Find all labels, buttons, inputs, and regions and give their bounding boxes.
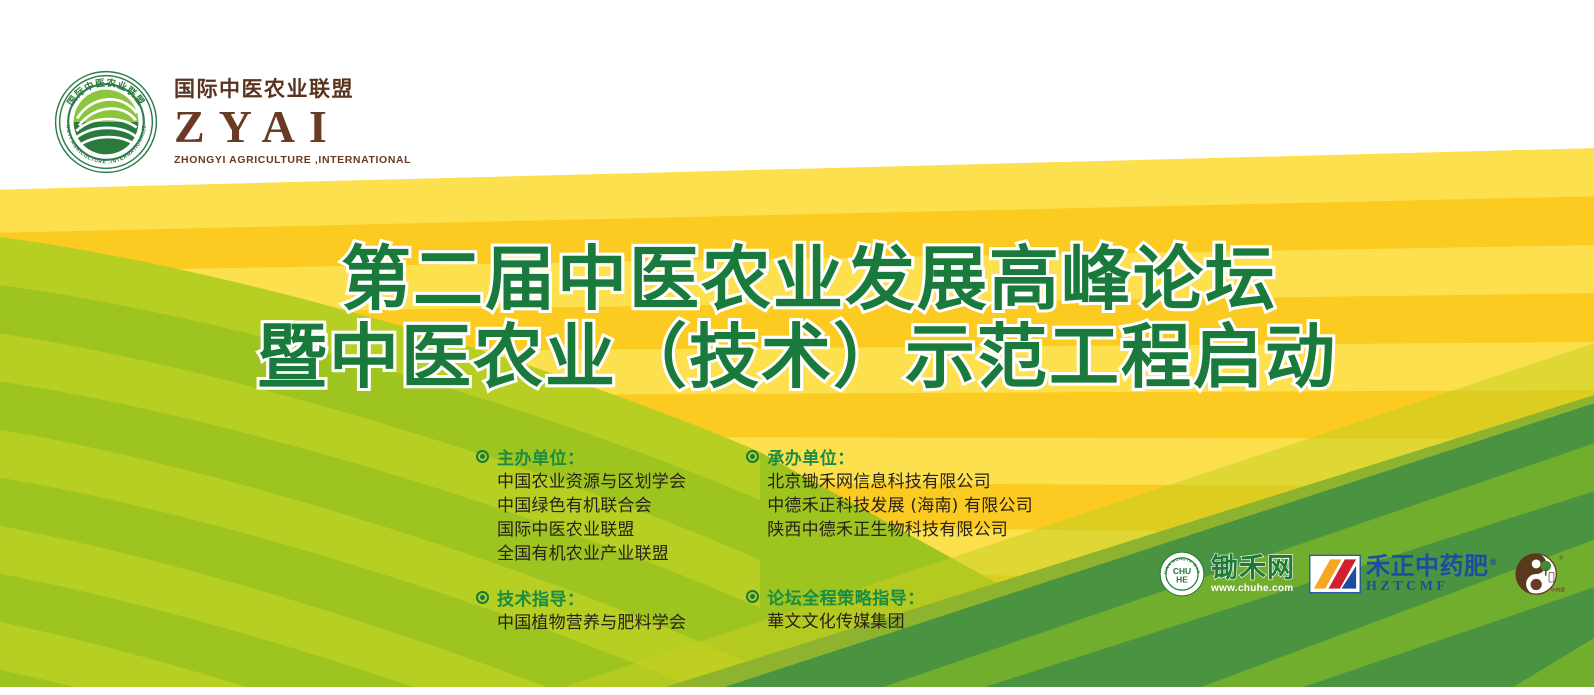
sponsor-hezheng: 禾正中药肥® HZTCMF	[1309, 554, 1498, 594]
info-group-host: 主办单位： 中国农业资源与区划学会 中国绿色有机联合会 国际中医农业联盟 全国有…	[476, 444, 686, 567]
yinyang-tree-icon: ® 中药肥	[1512, 551, 1570, 597]
info-column-right: 承办单位： 北京锄禾网信息科技有限公司 中德禾正科技发展 (海南) 有限公司 陕…	[746, 444, 1033, 639]
logo-acronym: ZYAI	[174, 104, 411, 150]
info-heading-label: 主办单位：	[497, 444, 585, 469]
logo-name-cn: 国际中医农业联盟	[174, 79, 411, 100]
hezheng-name-cn-text: 禾正中药肥	[1366, 552, 1489, 580]
spacer	[746, 546, 1033, 584]
info-item-list: 中国农业资源与区划学会 中国绿色有机联合会 国际中医农业联盟 全国有机农业产业联…	[476, 470, 686, 567]
list-item: 中国植物营养与肥料学会	[497, 611, 686, 635]
svg-text:中药肥: 中药肥	[1551, 587, 1566, 594]
chuhe-url: www.chuhe.com	[1211, 584, 1295, 594]
sponsor-logo-row: CHINA NONGYE WANG CHU HE 锄禾网 www.chuhe.c…	[1159, 551, 1570, 597]
list-item: 中国农业资源与区划学会	[497, 470, 686, 494]
sponsor-yinyang: ® 中药肥	[1512, 551, 1570, 597]
list-item: 北京锄禾网信息科技有限公司	[767, 470, 1033, 494]
hezheng-name-en: HZTCMF	[1366, 580, 1498, 594]
list-item: 中德禾正科技发展 (海南) 有限公司	[767, 494, 1033, 518]
info-item-list: 中国植物营养与肥料学会	[476, 611, 686, 635]
logo-name-en: ZHONGYI AGRICULTURE ,INTERNATIONAL	[174, 155, 411, 166]
organization-logo: 国际中医农业联盟 ZHONGYI AGRICULTURE ,INTERNATIO…	[52, 68, 411, 176]
list-item: 華文文化传媒集团	[767, 610, 1033, 634]
info-heading-row: 承办单位：	[746, 444, 1033, 469]
info-item-list: 華文文化传媒集团	[746, 610, 1033, 634]
info-item-list: 北京锄禾网信息科技有限公司 中德禾正科技发展 (海南) 有限公司 陕西中德禾正生…	[746, 470, 1033, 542]
bullet-icon	[746, 450, 759, 463]
chuhe-name-cn: 锄禾网	[1211, 555, 1295, 582]
chuhe-wordmark: 锄禾网 www.chuhe.com	[1211, 555, 1295, 594]
info-group-strategy-guidance: 论坛全程策略指导： 華文文化传媒集团	[746, 584, 1033, 634]
info-heading-label: 技术指导：	[497, 585, 585, 610]
sponsor-chuhe: CHINA NONGYE WANG CHU HE 锄禾网 www.chuhe.c…	[1159, 551, 1295, 597]
info-heading-label: 承办单位：	[767, 444, 855, 469]
spacer	[476, 571, 686, 585]
hezheng-wordmark: 禾正中药肥® HZTCMF	[1366, 554, 1498, 594]
poster-banner: 国际中医农业联盟 ZHONGYI AGRICULTURE ,INTERNATIO…	[0, 0, 1594, 695]
logo-wordmark: 国际中医农业联盟 ZYAI ZHONGYI AGRICULTURE ,INTER…	[174, 79, 411, 166]
list-item: 中国绿色有机联合会	[497, 494, 686, 518]
bullet-icon	[746, 590, 759, 603]
zyai-seal-icon: 国际中医农业联盟 ZHONGYI AGRICULTURE ,INTERNATIO…	[52, 68, 160, 176]
registered-mark-label: ®	[1559, 555, 1564, 562]
info-group-organizer: 承办单位： 北京锄禾网信息科技有限公司 中德禾正科技发展 (海南) 有限公司 陕…	[746, 444, 1033, 542]
registered-mark-icon: ®	[1489, 558, 1499, 568]
info-group-tech-guidance: 技术指导： 中国植物营养与肥料学会	[476, 585, 686, 635]
info-heading-row: 论坛全程策略指导：	[746, 584, 1033, 609]
list-item: 全国有机农业产业联盟	[497, 542, 686, 566]
chuhe-seal-icon: CHINA NONGYE WANG CHU HE	[1159, 551, 1205, 597]
svg-text:HE: HE	[1176, 574, 1188, 584]
list-item: 国际中医农业联盟	[497, 518, 686, 542]
bullet-icon	[476, 450, 489, 463]
info-heading-label: 论坛全程策略指导：	[767, 584, 925, 609]
info-column-left: 主办单位： 中国农业资源与区划学会 中国绿色有机联合会 国际中医农业联盟 全国有…	[476, 444, 686, 639]
hezheng-mark-icon	[1309, 554, 1361, 594]
bullet-icon	[476, 591, 489, 604]
info-heading-row: 技术指导：	[476, 585, 686, 610]
hezheng-name-cn: 禾正中药肥®	[1366, 554, 1498, 578]
organizer-info: 主办单位： 中国农业资源与区划学会 中国绿色有机联合会 国际中医农业联盟 全国有…	[476, 444, 1033, 639]
list-item: 陕西中德禾正生物科技有限公司	[767, 518, 1033, 542]
info-heading-row: 主办单位：	[476, 444, 686, 469]
